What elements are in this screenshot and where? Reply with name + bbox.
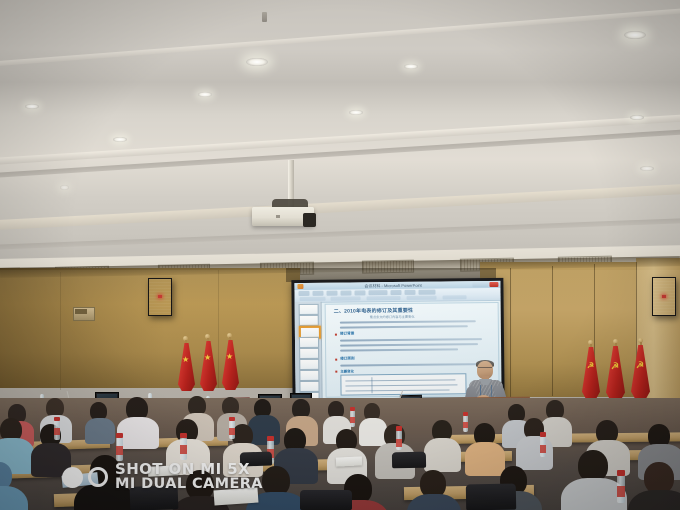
powerpoint-ribbon bbox=[294, 288, 500, 303]
wall-panel-seam-5 bbox=[60, 272, 61, 390]
bottle-label-3 bbox=[180, 445, 187, 454]
watermark-line-2: MI DUAL CAMERA bbox=[115, 477, 263, 492]
downlight-icon-8 bbox=[349, 110, 363, 115]
slide-thumbnail-8[interactable] bbox=[299, 381, 319, 392]
downlight-icon-6 bbox=[630, 115, 644, 120]
flag-star-icon-n3: ★ bbox=[226, 353, 233, 361]
ribbon-group-2 bbox=[331, 296, 361, 300]
bottle-label-10 bbox=[617, 486, 625, 497]
bottle-cap-5 bbox=[267, 436, 274, 441]
bottle-label-7 bbox=[396, 439, 402, 447]
window-close-button[interactable] bbox=[489, 282, 498, 287]
slide-s1-line-1 bbox=[340, 338, 482, 341]
ribbon-tab-6[interactable] bbox=[368, 290, 387, 295]
speaker-left bbox=[148, 278, 172, 316]
bottle-cap-10 bbox=[617, 470, 625, 476]
ribbon-group-3 bbox=[367, 296, 401, 300]
speaker-led-icon-left bbox=[158, 295, 162, 298]
chair-4 bbox=[392, 452, 426, 469]
slide-section-heading-2: 修订原则 bbox=[340, 356, 354, 361]
hammer-sickle-icon-p3: ☭ bbox=[636, 361, 644, 370]
bottle-label-1 bbox=[54, 428, 60, 435]
bottle-cap-3 bbox=[180, 433, 187, 438]
ribbon-tab-1[interactable] bbox=[298, 291, 309, 296]
slide-bullet-icon-2 bbox=[335, 359, 337, 361]
slide-table-row-1 bbox=[345, 379, 455, 381]
slide-thumbnail-5[interactable] bbox=[299, 348, 319, 359]
circle-outline-icon bbox=[88, 467, 108, 487]
bottle-cap-9 bbox=[540, 432, 546, 437]
downlight-icon-5 bbox=[404, 64, 418, 69]
projector-lens bbox=[303, 213, 316, 227]
speaker-led-icon-right bbox=[662, 295, 666, 298]
bottle-label-6 bbox=[350, 417, 355, 423]
slide-thumbnail-4[interactable] bbox=[299, 337, 319, 348]
watermark-line-1: SHOT ON MI 5X bbox=[115, 462, 263, 477]
ribbon-group-4 bbox=[407, 296, 437, 300]
chair-3 bbox=[466, 484, 516, 510]
slide-table-row-2 bbox=[345, 384, 457, 386]
downlight-icon-7 bbox=[113, 137, 127, 142]
paper-notebook-5 bbox=[336, 456, 362, 466]
presenter-glasses bbox=[478, 367, 492, 371]
bottle-cap-8 bbox=[463, 412, 468, 416]
powerpoint-logo-icon bbox=[297, 284, 303, 289]
slide-s1-line-2 bbox=[340, 343, 478, 346]
slide-table-row-3 bbox=[346, 389, 450, 391]
slide-thumbnail-2[interactable] bbox=[299, 315, 319, 326]
downlight-icon-1 bbox=[246, 58, 268, 66]
chair-2 bbox=[300, 490, 352, 510]
ceiling-hook bbox=[262, 12, 267, 22]
slide-bullet-icon-3 bbox=[335, 371, 337, 373]
hammer-sickle-icon-p2: ☭ bbox=[611, 362, 619, 371]
speaker-right bbox=[652, 277, 676, 316]
ribbon-tab-4[interactable] bbox=[340, 290, 351, 295]
bottle-label-9 bbox=[540, 445, 546, 453]
ribbon-tab-7[interactable] bbox=[390, 290, 401, 295]
slide-body-line-2 bbox=[340, 325, 468, 328]
ribbon-tab-5[interactable] bbox=[354, 290, 365, 295]
downlight-icon-2 bbox=[624, 31, 646, 39]
bottle-cap-7 bbox=[396, 426, 402, 431]
slide-subtitle: 重点条文的修订内容与主要变化 bbox=[370, 314, 415, 319]
wall-panel-seam-1 bbox=[510, 268, 511, 398]
camera-watermark: SHOT ON MI 5X MI DUAL CAMERA bbox=[62, 462, 263, 492]
downlight-icon-3 bbox=[25, 104, 39, 109]
slide-section-heading-3: 主要变化 bbox=[340, 368, 354, 373]
downlight-icon-4 bbox=[198, 92, 212, 97]
slide-data-table bbox=[340, 373, 466, 395]
slide-s1-line-3 bbox=[340, 348, 458, 351]
ribbon-tab-2[interactable] bbox=[312, 291, 323, 296]
downlight-icon-10 bbox=[60, 185, 69, 190]
hammer-sickle-icon-p1: ☭ bbox=[587, 362, 594, 370]
bottle-cap-1 bbox=[54, 417, 60, 421]
flag-star-icon-n1: ★ bbox=[182, 356, 189, 364]
downlight-icon-9 bbox=[640, 166, 654, 171]
ribbon-group-1 bbox=[300, 297, 326, 301]
bottle-cap-2 bbox=[116, 433, 123, 438]
slide-thumbnail-pane[interactable] bbox=[295, 302, 323, 399]
slide-thumbnail-1[interactable] bbox=[299, 304, 319, 315]
ribbon-tab-9[interactable] bbox=[418, 290, 435, 295]
bottle-label-4 bbox=[229, 428, 235, 435]
watermark-lens-icons bbox=[62, 467, 108, 488]
wall-panel-seam-6 bbox=[218, 270, 219, 388]
wall-panel-seam-2 bbox=[552, 266, 553, 396]
ribbon-group-5 bbox=[443, 295, 467, 299]
slide-thumbnail-7[interactable] bbox=[299, 370, 319, 381]
slide-table-col-sep bbox=[371, 377, 372, 393]
bottle-cap-6 bbox=[350, 407, 355, 411]
slide-body-line-1 bbox=[340, 320, 476, 323]
projector-vent bbox=[276, 215, 280, 218]
bottle-cap-4 bbox=[229, 417, 235, 421]
flag-star-icon-n2: ★ bbox=[204, 354, 211, 362]
ribbon-tab-3[interactable] bbox=[326, 291, 337, 296]
slide-bullet-icon-1 bbox=[335, 334, 337, 336]
window-minmax-buttons[interactable] bbox=[472, 282, 488, 287]
ribbon-tab-8[interactable] bbox=[404, 290, 415, 295]
wall-control-plate-insert bbox=[75, 309, 87, 314]
circle-filled-icon bbox=[62, 467, 83, 488]
slide-thumbnail-6[interactable] bbox=[299, 359, 319, 370]
photo-scene: 会议材料 - Microsoft PowerPoint bbox=[0, 0, 680, 510]
bottle-label-2 bbox=[116, 446, 123, 455]
slide-section-heading-1: 修订背景 bbox=[340, 331, 354, 336]
watermark-text: SHOT ON MI 5X MI DUAL CAMERA bbox=[115, 462, 263, 492]
bottle-label-8 bbox=[463, 422, 468, 428]
